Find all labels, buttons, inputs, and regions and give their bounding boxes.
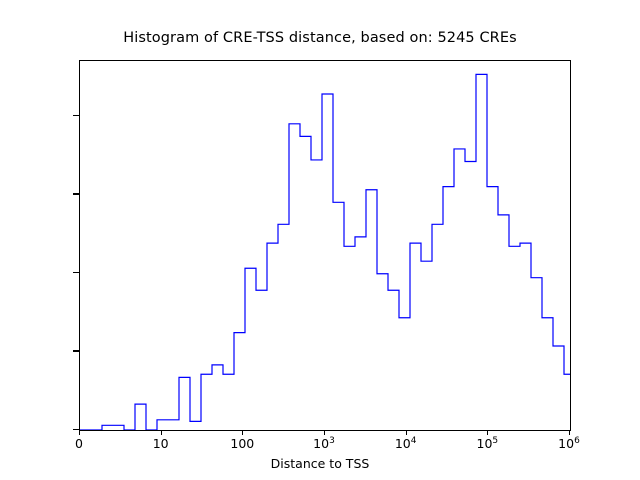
x-tick-label-5: 105	[447, 436, 527, 451]
plot-area	[79, 60, 571, 431]
x-tick-label-0: 0	[39, 436, 119, 451]
x-tick-label-2: 100	[202, 436, 282, 451]
histogram-step-outline	[80, 61, 570, 430]
x-tick-label-1: 10	[121, 436, 201, 451]
x-tick-label-6: 106	[529, 436, 609, 451]
page-title: Histogram of CRE-TSS distance, based on:…	[0, 30, 640, 46]
histogram-figure: Histogram of CRE-TSS distance, based on:…	[0, 0, 640, 480]
x-axis-label: Distance to TSS	[0, 456, 640, 471]
histogram-trace	[80, 74, 570, 430]
x-tick-label-4: 104	[366, 436, 446, 451]
x-tick-label-3: 103	[284, 436, 364, 451]
